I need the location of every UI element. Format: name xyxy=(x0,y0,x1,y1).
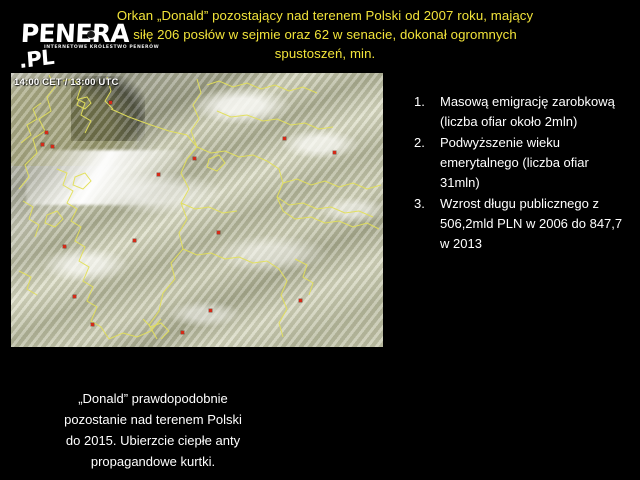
list-item-number: 3. xyxy=(410,194,440,214)
city-marker xyxy=(333,151,336,154)
list-item-number: 2. xyxy=(410,133,440,153)
city-marker xyxy=(283,137,286,140)
city-marker xyxy=(217,231,220,234)
city-marker xyxy=(133,239,136,242)
city-marker xyxy=(181,331,184,334)
logo-wordmark-main: PENERA xyxy=(20,19,130,48)
slide-caption: „Donald” prawdopodobnie pozostanie nad t… xyxy=(14,388,292,472)
list-item: 3. Wzrost długu publicznego z 506,2mld P… xyxy=(410,194,626,254)
satellite-weather-image: 14:00 CET / 13:00 UTC xyxy=(11,73,383,347)
city-marker xyxy=(45,131,48,134)
city-marker xyxy=(209,309,212,312)
city-marker xyxy=(91,323,94,326)
city-marker xyxy=(41,143,44,146)
list-item-number: 1. xyxy=(410,92,440,112)
city-marker xyxy=(109,101,112,104)
paint-splat-icon xyxy=(84,28,100,42)
logo-tagline: INTERNETOWE KRÓLESTWO PENERÓW xyxy=(44,45,159,50)
penera-pl-logo: PENERA.PL INTERNETOWE KRÓLESTWO PENERÓW xyxy=(18,20,148,62)
country-borders-overlay xyxy=(11,73,383,347)
caption-line-3: do 2015. Ubierzcie ciepłe anty xyxy=(14,430,292,451)
satellite-timestamp: 14:00 CET / 13:00 UTC xyxy=(14,77,119,88)
consequences-list: 1. Masową emigrację zarobkową (liczba of… xyxy=(410,92,626,255)
city-marker xyxy=(157,173,160,176)
list-item-text: Wzrost długu publicznego z 506,2mld PLN … xyxy=(440,194,626,254)
caption-line-1: „Donald” prawdopodobnie xyxy=(14,388,292,409)
list-item-text: Podwyższenie wieku emerytalnego (liczba … xyxy=(440,133,626,193)
list-item: 1. Masową emigrację zarobkową (liczba of… xyxy=(410,92,626,132)
city-marker xyxy=(63,245,66,248)
caption-line-4: propagandowe kurtki. xyxy=(14,451,292,472)
city-marker xyxy=(73,295,76,298)
caption-line-2: pozostanie nad terenem Polski xyxy=(14,409,292,430)
list-item-text: Masową emigrację zarobkową (liczba ofiar… xyxy=(440,92,626,132)
city-marker xyxy=(193,157,196,160)
city-marker xyxy=(299,299,302,302)
city-marker xyxy=(51,145,54,148)
list-item: 2. Podwyższenie wieku emerytalnego (licz… xyxy=(410,133,626,193)
presentation-slide: Orkan „Donald” pozostający nad terenem P… xyxy=(0,0,640,480)
